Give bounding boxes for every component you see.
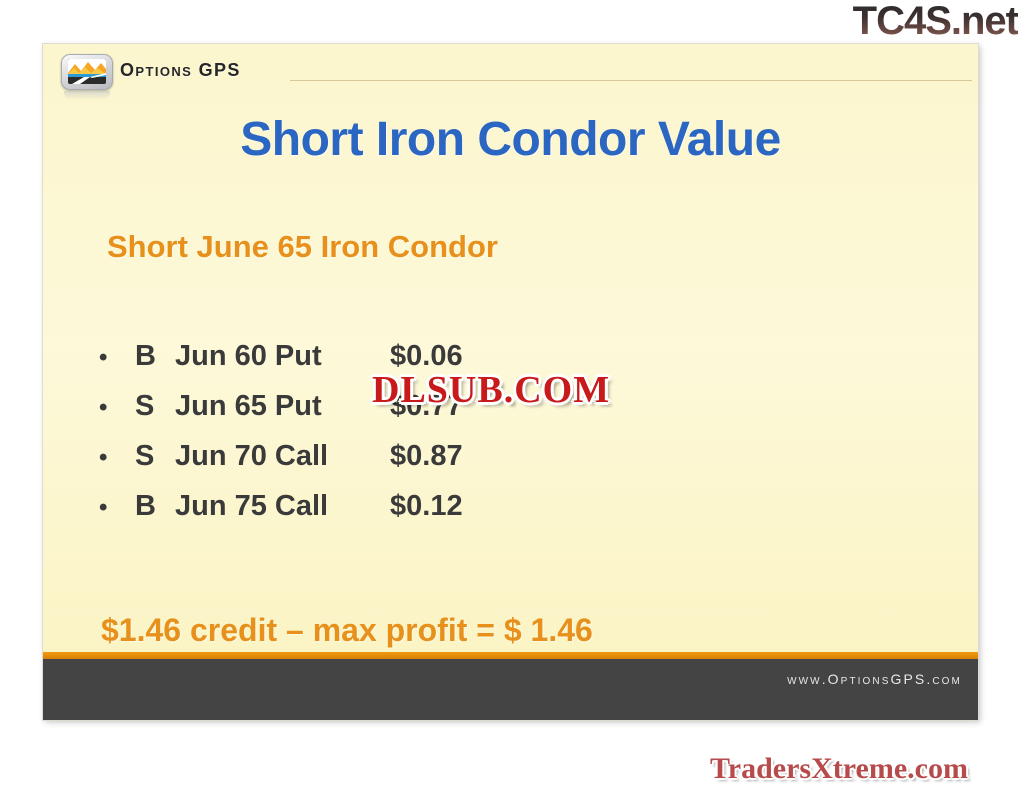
leg-price: $0.87	[390, 440, 463, 473]
logo-map-graphic	[68, 59, 106, 84]
footer-accent-stripe	[43, 652, 978, 659]
leg-side: S	[135, 440, 175, 473]
leg-side: S	[135, 390, 175, 423]
list-item: • S Jun 70 Call $0.87	[99, 440, 739, 490]
list-item: • B Jun 75 Call $0.12	[99, 490, 739, 540]
leg-description: Jun 65 Put	[175, 390, 390, 423]
bullet-point-icon: •	[99, 396, 135, 420]
leg-price: $0.12	[390, 490, 463, 523]
summary-text: $1.46 credit – max profit = $ 1.46	[101, 612, 593, 649]
slide-footer: www.OptionsGPS.com	[43, 659, 978, 720]
logo-reflection	[64, 91, 110, 100]
leg-description: Jun 60 Put	[175, 340, 390, 373]
bullet-point-icon: •	[99, 446, 135, 470]
bullet-point-icon: •	[99, 346, 135, 370]
header-divider	[290, 80, 972, 81]
leg-description: Jun 75 Call	[175, 490, 390, 523]
leg-side: B	[135, 340, 175, 373]
footer-website-url: www.OptionsGPS.com	[787, 671, 962, 687]
slide-header: Options GPS	[43, 44, 978, 96]
leg-side: B	[135, 490, 175, 523]
gps-device-icon	[61, 54, 113, 94]
logo-screen	[68, 59, 106, 84]
slide-subtitle: Short June 65 Iron Condor	[107, 229, 498, 265]
leg-description: Jun 70 Call	[175, 440, 390, 473]
tc4s-watermark: TC4S.net	[853, 0, 1018, 44]
brand-name: Options GPS	[120, 60, 241, 81]
page-title: Short Iron Condor Value	[43, 112, 978, 167]
dlsub-watermark: DLSUB.COM	[372, 368, 610, 412]
tradersxtreme-watermark: TradersXtreme.com	[710, 752, 968, 786]
bullet-point-icon: •	[99, 496, 135, 520]
